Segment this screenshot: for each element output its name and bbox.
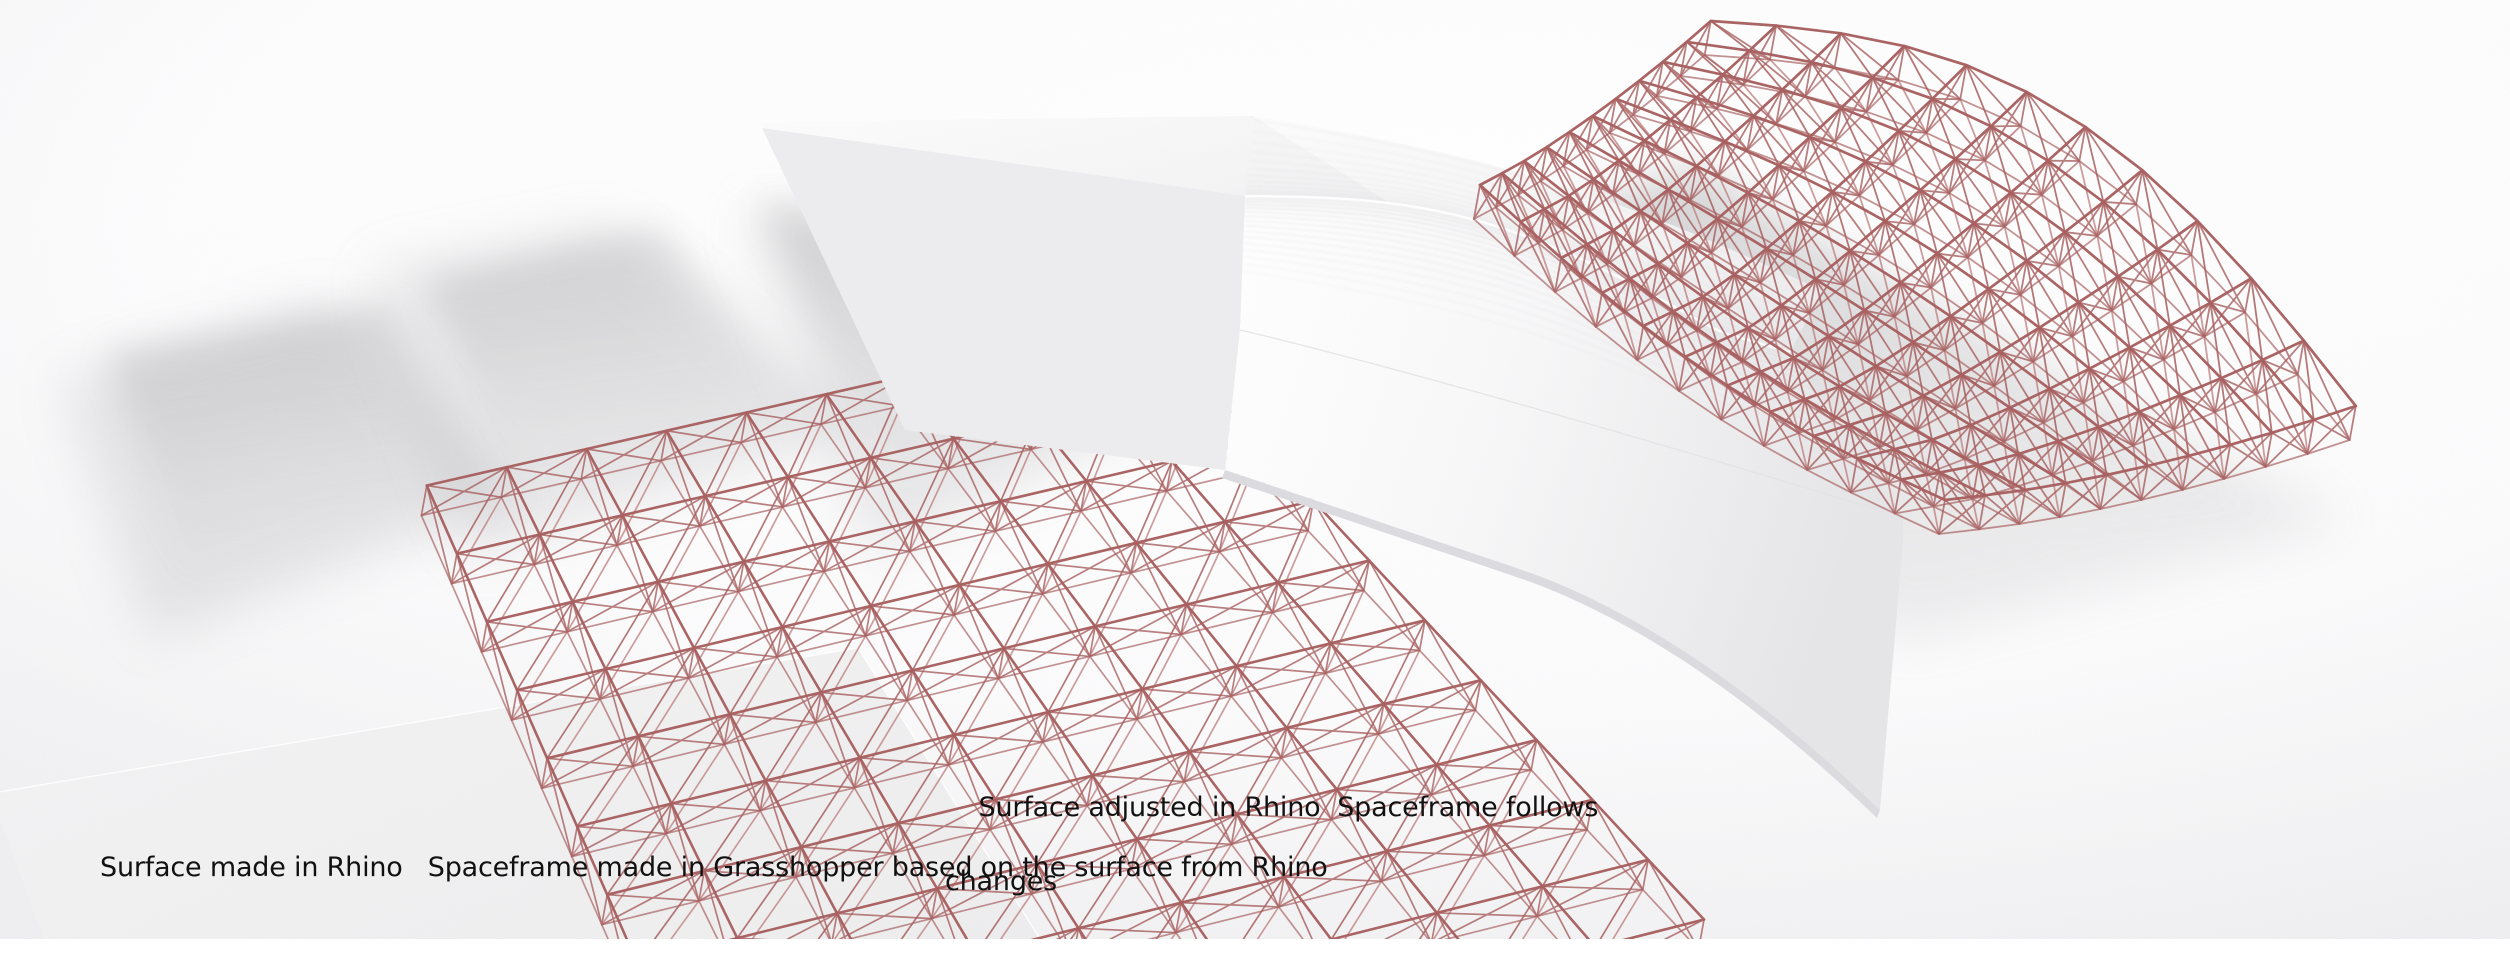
- caption-right: Surface adjusted in Rhino Spaceframe fol…: [945, 752, 1598, 974]
- caption-right-line-2: changes: [945, 863, 1598, 900]
- scene-background: Surface made in Rhino Spaceframe made in…: [0, 0, 2510, 939]
- caption-right-line-1: Surface adjusted in Rhino Spaceframe fol…: [979, 792, 1599, 823]
